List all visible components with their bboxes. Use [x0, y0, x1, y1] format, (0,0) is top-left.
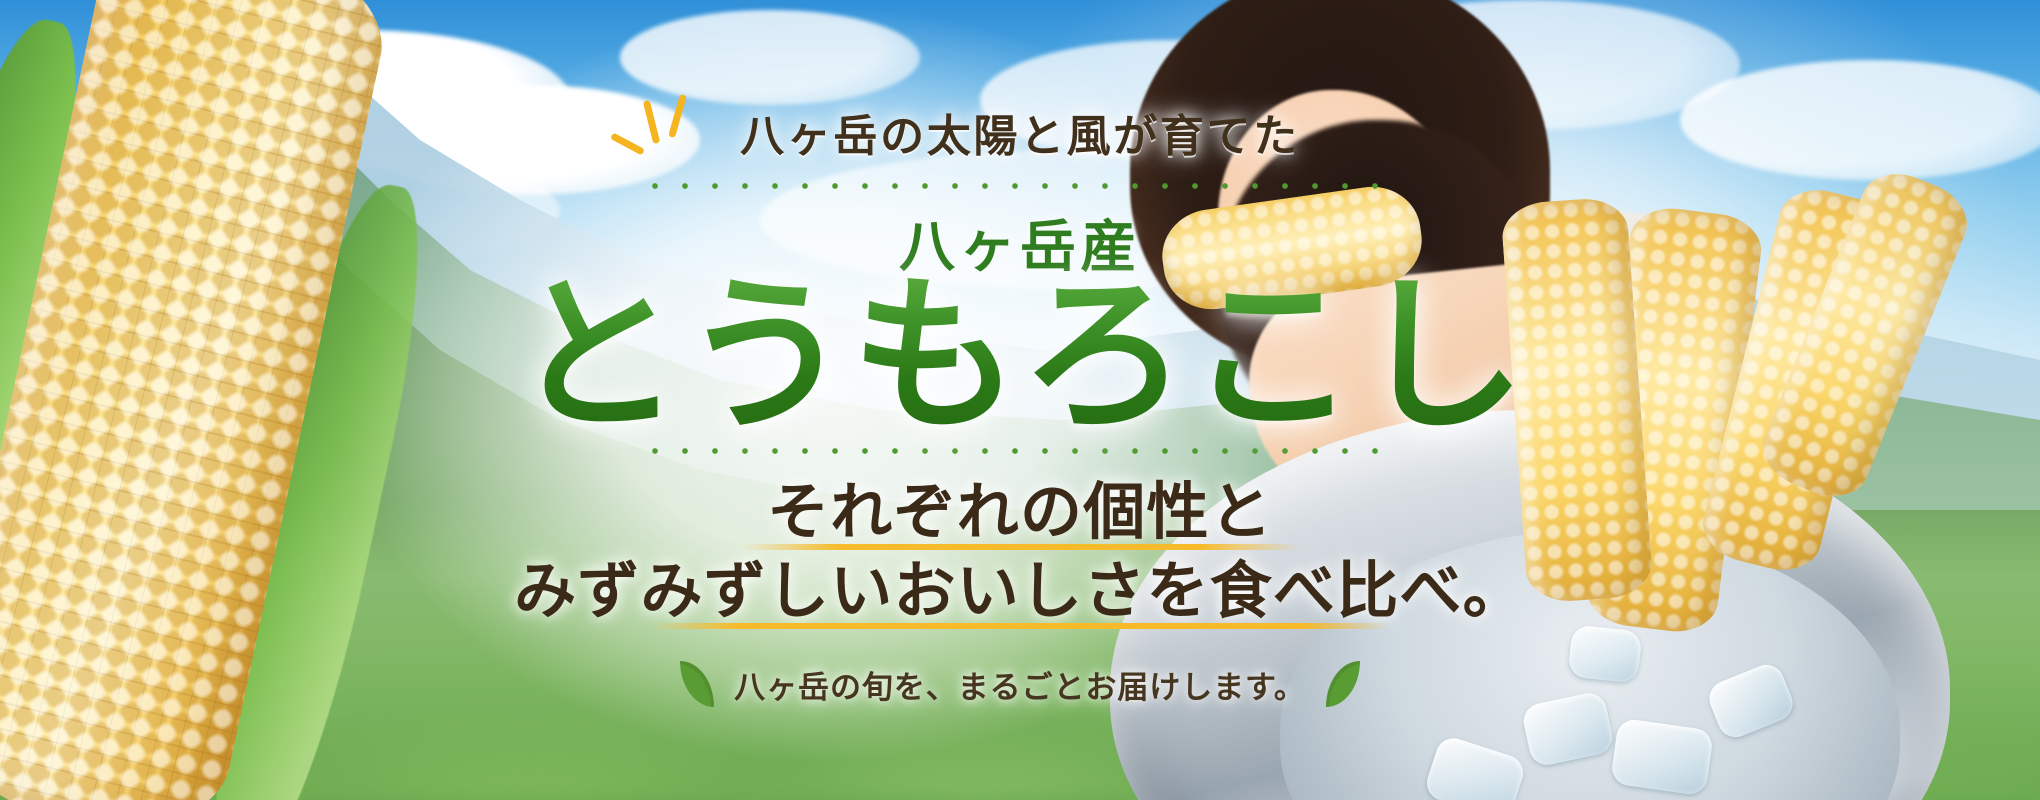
hero-banner: 八ヶ岳の太陽と風が育てた 八ヶ岳産 とうもろこし それぞれの個性と みずみずしい…	[0, 0, 2040, 800]
ice-cube	[1567, 624, 1642, 683]
ice-cube	[1610, 718, 1714, 797]
